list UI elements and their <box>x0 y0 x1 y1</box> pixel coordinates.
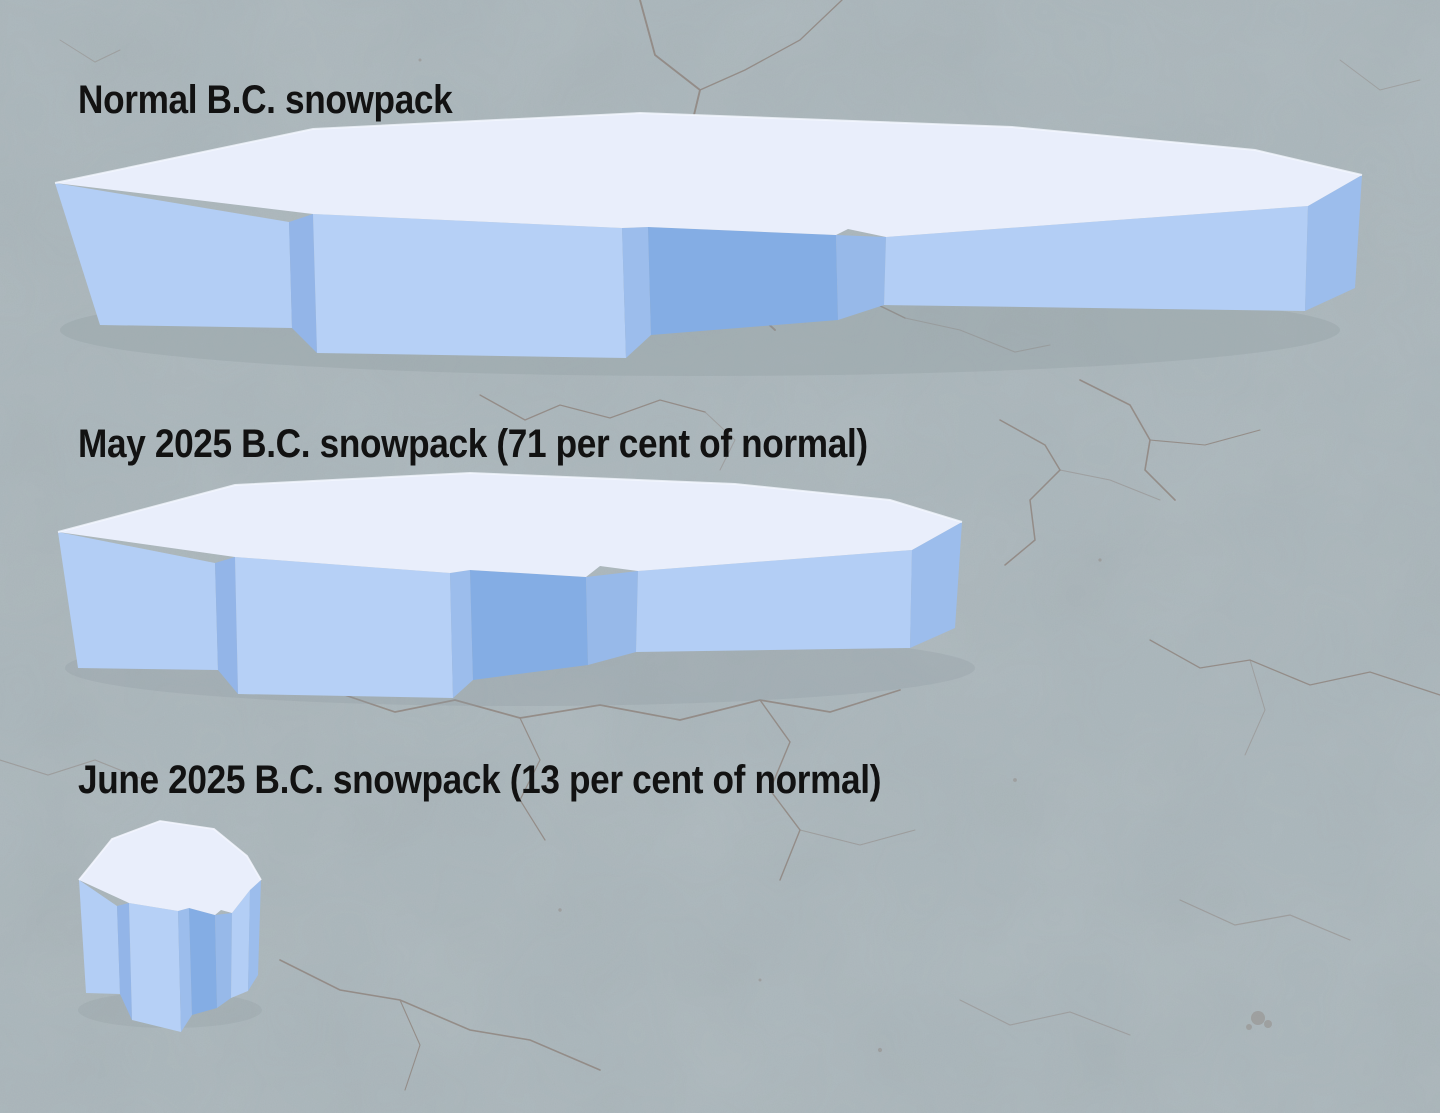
slab-facet <box>235 557 453 698</box>
slab-top-surface <box>58 473 962 577</box>
snowpack-slab-normal <box>0 0 1440 1113</box>
slab-facet-dark <box>648 227 838 335</box>
infographic-canvas: Normal B.C. snowpack May 2025 B.C. snowp… <box>0 0 1440 1113</box>
slab-facet <box>313 214 626 358</box>
slab-facet <box>215 557 238 694</box>
slab-facet <box>884 206 1308 311</box>
slab-facet <box>248 880 261 991</box>
label-june-2025-snowpack: June 2025 B.C. snowpack (13 per cent of … <box>78 760 881 800</box>
slab-facet <box>910 522 962 648</box>
slab-facet <box>79 880 120 994</box>
label-may-2025-snowpack: May 2025 B.C. snowpack (71 per cent of n… <box>78 424 868 464</box>
slab-facet <box>450 570 473 698</box>
slab-top-surface <box>55 113 1362 237</box>
slab-facet <box>129 903 181 1032</box>
slab-facet <box>636 550 912 652</box>
snowpack-slab-june <box>0 0 1440 1113</box>
slab-facet <box>117 903 132 1020</box>
background-texture <box>0 0 1440 1113</box>
slab-facet <box>55 183 292 328</box>
slab-facet <box>289 214 317 353</box>
slab-facet <box>622 227 651 358</box>
slab-top-surface <box>79 821 261 915</box>
slab-facet <box>1305 175 1362 311</box>
slab-facet <box>836 235 886 320</box>
slab-facet <box>178 908 192 1032</box>
label-normal-snowpack: Normal B.C. snowpack <box>78 80 452 120</box>
snowpack-slab-may <box>0 0 1440 1113</box>
slab-facet <box>231 890 250 998</box>
slab-facet <box>58 532 218 670</box>
slab-facet <box>586 571 638 665</box>
slab-facet <box>215 913 232 1008</box>
slab-facet-dark <box>470 570 588 680</box>
slab-facet-dark <box>189 908 217 1015</box>
